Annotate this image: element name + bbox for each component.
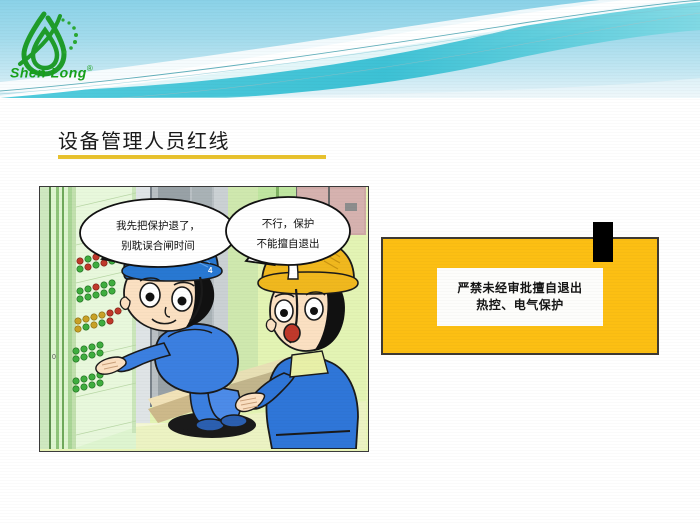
presentation-slide: Shen Long® 设备管理人员红线 — [0, 0, 700, 525]
bubble-right-line-1: 不行，保护 — [262, 217, 315, 230]
shen-long-logo: Shen Long® — [8, 8, 108, 86]
bubble-left-line-2: 别耽误合闸时间 — [121, 239, 195, 252]
speech-bubble-right: 不行，保护 不能擅自退出 — [226, 197, 350, 265]
warning-line-2: 热控、电气保护 — [476, 297, 564, 314]
page-title-text: 设备管理人员红线 — [58, 125, 230, 154]
warning-line-1: 严禁未经审批擅自退出 — [457, 280, 582, 297]
bubble-right-line-2: 不能擅自退出 — [257, 237, 320, 250]
svg-text:0: 0 — [52, 354, 56, 361]
cartoon-scene: 0 — [40, 187, 366, 449]
warning-text-panel: 严禁未经审批擅自退出 热控、电气保护 — [437, 268, 603, 326]
page-title: 设备管理人员红线 — [58, 125, 230, 154]
logo-wordmark: Shen Long® — [10, 64, 106, 82]
title-underline-rule — [58, 155, 326, 159]
svg-text:4: 4 — [208, 266, 213, 275]
warning-box-black-tab — [593, 222, 613, 262]
safety-cartoon-illustration: 0 — [39, 186, 369, 452]
logo-registered-mark: ® — [87, 64, 93, 73]
speech-bubble-left: 我先把保护退了， 别耽误合闸时间 — [80, 199, 236, 267]
bubble-left-line-1: 我先把保护退了， — [116, 219, 200, 232]
logo-wordmark-text: Shen Long — [10, 64, 87, 80]
